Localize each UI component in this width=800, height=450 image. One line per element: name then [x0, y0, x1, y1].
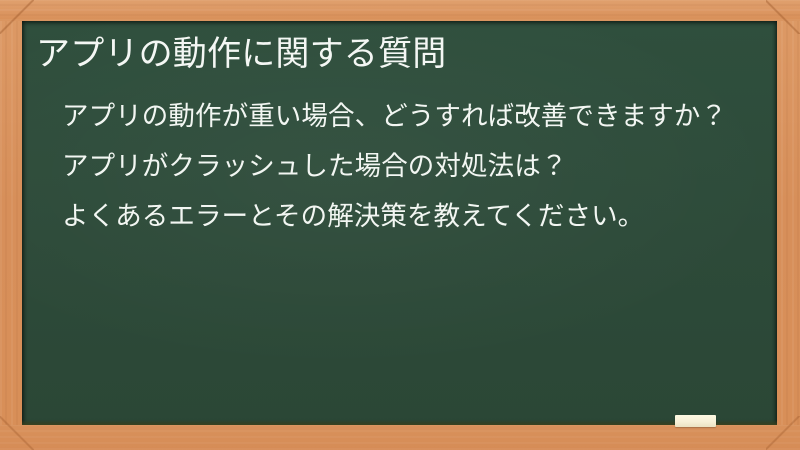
list-item: アプリの動作が重い場合、どうすれば改善できますか？ — [62, 98, 729, 134]
slide-title: アプリの動作に関する質問 — [36, 32, 757, 76]
list-item: アプリがクラッシュした場合の対処法は？ — [62, 148, 729, 184]
frame-rail-top — [0, 0, 800, 21]
frame-rail-bottom — [0, 425, 800, 450]
list-item: よくあるエラーとその解決策を教えてください。 — [62, 198, 729, 234]
question-list: アプリの動作が重い場合、どうすれば改善できますか？ アプリがクラッシュした場合の… — [36, 98, 757, 234]
chalk-stick — [675, 415, 716, 427]
chalkboard-slide: アプリの動作に関する質問 アプリの動作が重い場合、どうすれば改善できますか？ ア… — [0, 0, 800, 450]
chalkboard-content: アプリの動作に関する質問 アプリの動作が重い場合、どうすれば改善できますか？ ア… — [22, 21, 777, 425]
chalkboard: アプリの動作に関する質問 アプリの動作が重い場合、どうすれば改善できますか？ ア… — [22, 21, 777, 425]
board-ledge-shadow — [22, 420, 777, 425]
